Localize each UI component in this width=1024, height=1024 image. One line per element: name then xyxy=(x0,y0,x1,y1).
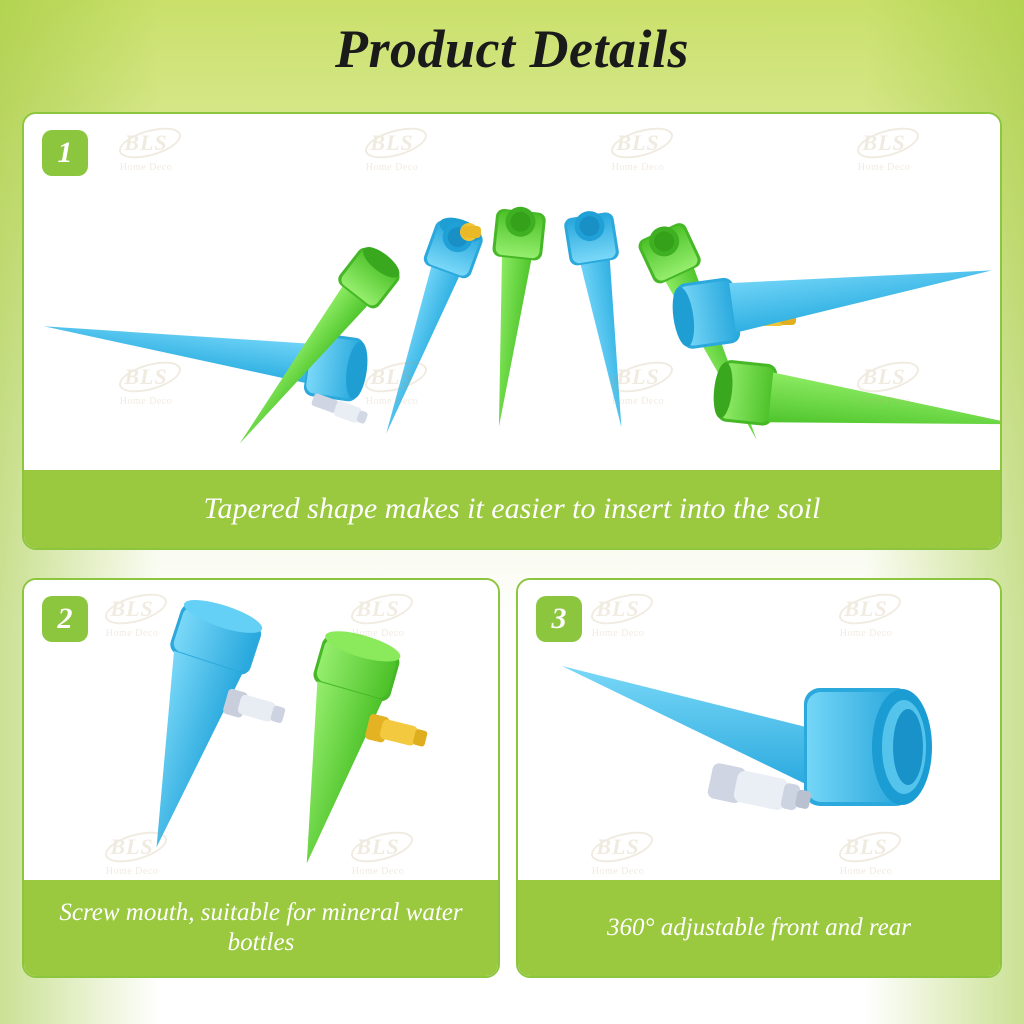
spikes-arc-illustration xyxy=(24,114,1002,472)
two-spikes-illustration xyxy=(24,580,500,884)
card-1-caption: Tapered shape makes it easier to insert … xyxy=(24,470,1000,548)
product-details-page: Product Details xyxy=(0,0,1024,1024)
card-3-caption: 360° adjustable front and rear xyxy=(518,880,1000,976)
adjustable-spike-illustration xyxy=(518,580,1002,884)
card-2-number-badge: 2 xyxy=(42,596,88,642)
product-detail-card-1: 1 BLS Home Deco BLS Home Deco BLS Home D… xyxy=(22,112,1002,550)
card-1-number-badge: 1 xyxy=(42,130,88,176)
card-3-number-badge: 3 xyxy=(536,596,582,642)
product-detail-card-3: 3 BLS Home Deco BLS Home Deco BLS Home D… xyxy=(516,578,1002,978)
card-2-caption: Screw mouth, suitable for mineral water … xyxy=(24,880,498,976)
product-detail-card-2: 2 BLS Home Deco BLS Home Deco BLS Home D… xyxy=(22,578,500,978)
page-title: Product Details xyxy=(0,18,1024,80)
